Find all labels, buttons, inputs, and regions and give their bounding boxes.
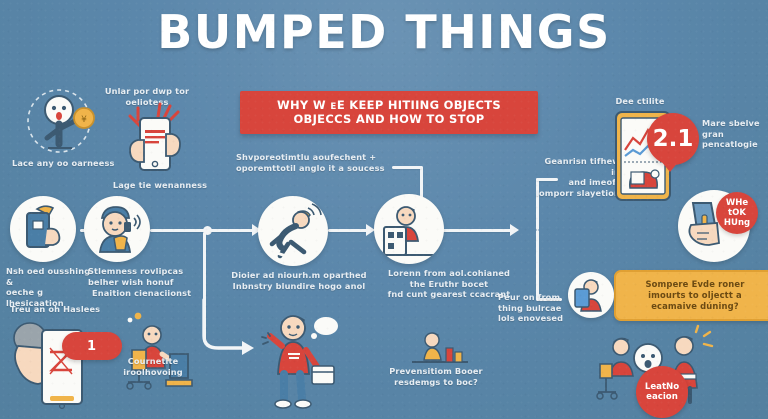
bottom-left-caption: Treu an oh Haslees — [10, 304, 130, 315]
caption-line: and imeoft — [534, 177, 620, 188]
caption-line: Peur on from — [498, 292, 574, 303]
caption-line: Shvporeotimtlu aoufechent + — [236, 152, 406, 163]
caption-line: resdemgs to boc? — [378, 377, 494, 388]
caption-line: Geanrisn tifhew in — [534, 156, 620, 177]
flow-node-can-caption: Nsh oed ousshing & oeche g lhesicaation — [6, 266, 98, 308]
flow-node-running[interactable] — [258, 196, 328, 266]
caption-line: Prevensitiom Booer — [378, 366, 494, 377]
bubble-line: HUng — [724, 218, 750, 228]
right-panel-caption: Peur on from thing bulrcae lols enovesed — [498, 292, 574, 324]
banner-line-1: WHY W ᴇE KEEP HITIING OBJECTS — [246, 98, 532, 112]
caption-line: oporemttotil anglo it a soucess — [236, 163, 406, 174]
connector-line-5 — [442, 229, 512, 232]
subtitle-banner: WHY W ᴇE KEEP HITIING OBJECTS OBJECCS AN… — [240, 91, 538, 134]
flow-node-desk[interactable] — [374, 194, 444, 264]
curved-connector-arrow — [196, 300, 266, 360]
running-node-caption-above: Shvporeotimtlu aoufechent + oporemttotil… — [236, 152, 406, 173]
callout-line: imourts to oljectt a — [625, 290, 765, 301]
caption-line: the Eruthr bocet — [374, 279, 524, 290]
seated-worker-illustration — [112, 316, 194, 394]
flow-node-person-phone[interactable] — [84, 196, 150, 262]
tablet-person-node[interactable] — [568, 272, 614, 318]
callout-line: Sompere Evde roner — [625, 279, 765, 290]
caption-line: Nsh oed ousshing & — [6, 266, 98, 287]
connector-line-3 — [210, 229, 254, 232]
seated-worker-caption: Cournetite iroolhovoing — [106, 356, 200, 377]
caption-line: Stlemness rovlipcas — [88, 266, 192, 277]
flow-node-running-caption: Dioier ad niourh.m oparthed Inbnstry blu… — [228, 270, 370, 291]
alert-pill-label: 1 — [87, 339, 97, 354]
phone-caption-bottom: Lage tie wenanness — [110, 180, 210, 191]
flow-node-can[interactable] — [10, 196, 76, 262]
chart-phone-side-caption: Mare sbelve gran pencatlogie — [702, 118, 768, 150]
caption-line: Mare sbelve — [702, 118, 768, 129]
bubble-line: WHe — [726, 198, 748, 208]
caption-line: lomporr slayetion — [534, 188, 620, 199]
hands-holding-phone-illustration — [116, 100, 196, 178]
top-left-figure-caption: Lace any oo oarneess — [12, 158, 132, 169]
caption-line: gran pencatlogie — [702, 129, 768, 150]
metric-badge-2-1: 2.1 — [647, 113, 699, 165]
callout-line: ecamaive dúning? — [625, 301, 765, 312]
flow-node-person-phone-caption-extra: Enaition cienaciionst — [92, 288, 222, 299]
caption-line: belher wish honuf — [88, 277, 192, 288]
bottom-right-red-circle: LeatNo eacion — [636, 366, 688, 418]
bubble-line: tOK — [728, 208, 746, 218]
connector-line-4 — [328, 229, 368, 232]
bottom-center-small-illustration — [410, 330, 470, 366]
caption-line: lols enovesed — [498, 313, 574, 324]
connector-arrow-3 — [510, 224, 519, 236]
red-circle-line: LeatNo — [645, 382, 679, 393]
standing-person-briefcase-illustration — [262, 308, 354, 412]
page-title: BUMPED THINGS — [0, 6, 768, 58]
red-circle-line: eacion — [646, 392, 678, 403]
bottom-center-caption: Prevensitiom Booer resdemgs to boc? — [378, 366, 494, 387]
svg-text:¥: ¥ — [81, 115, 87, 125]
connector-line-2 — [150, 229, 205, 232]
chart-phone-caption: Dee ctilite — [600, 96, 680, 107]
infographic-canvas: BUMPED THINGS WHY W ᴇE KEEP HITIING OBJE… — [0, 0, 768, 419]
hand-phone-speech-bubble: WHe tOK HUng — [716, 192, 758, 234]
orange-callout-box: Sompere Evde roner imourts to oljectt a … — [614, 270, 768, 321]
caption-line: Cournetite — [106, 356, 200, 367]
caption-line: Dioier ad niourh.m oparthed — [228, 270, 370, 281]
caption-line: iroolhovoing — [106, 367, 200, 378]
chart-phone-left-caption: Geanrisn tifhew in and imeoft lomporr sl… — [534, 156, 620, 198]
caption-line: thing bulrcae — [498, 303, 574, 314]
flow-node-person-phone-caption: Stlemness rovlipcas belher wish honuf — [88, 266, 192, 287]
connector-branch-down-far — [536, 230, 539, 300]
metric-badge-value: 2.1 — [653, 126, 694, 152]
caption-line: Lorenn from aol.cohianed — [374, 268, 524, 279]
banner-line-2: OBJECCS AND HOW TO STOP — [246, 112, 532, 126]
caption-line: Inbnstry blundire hogo anol — [228, 281, 370, 292]
